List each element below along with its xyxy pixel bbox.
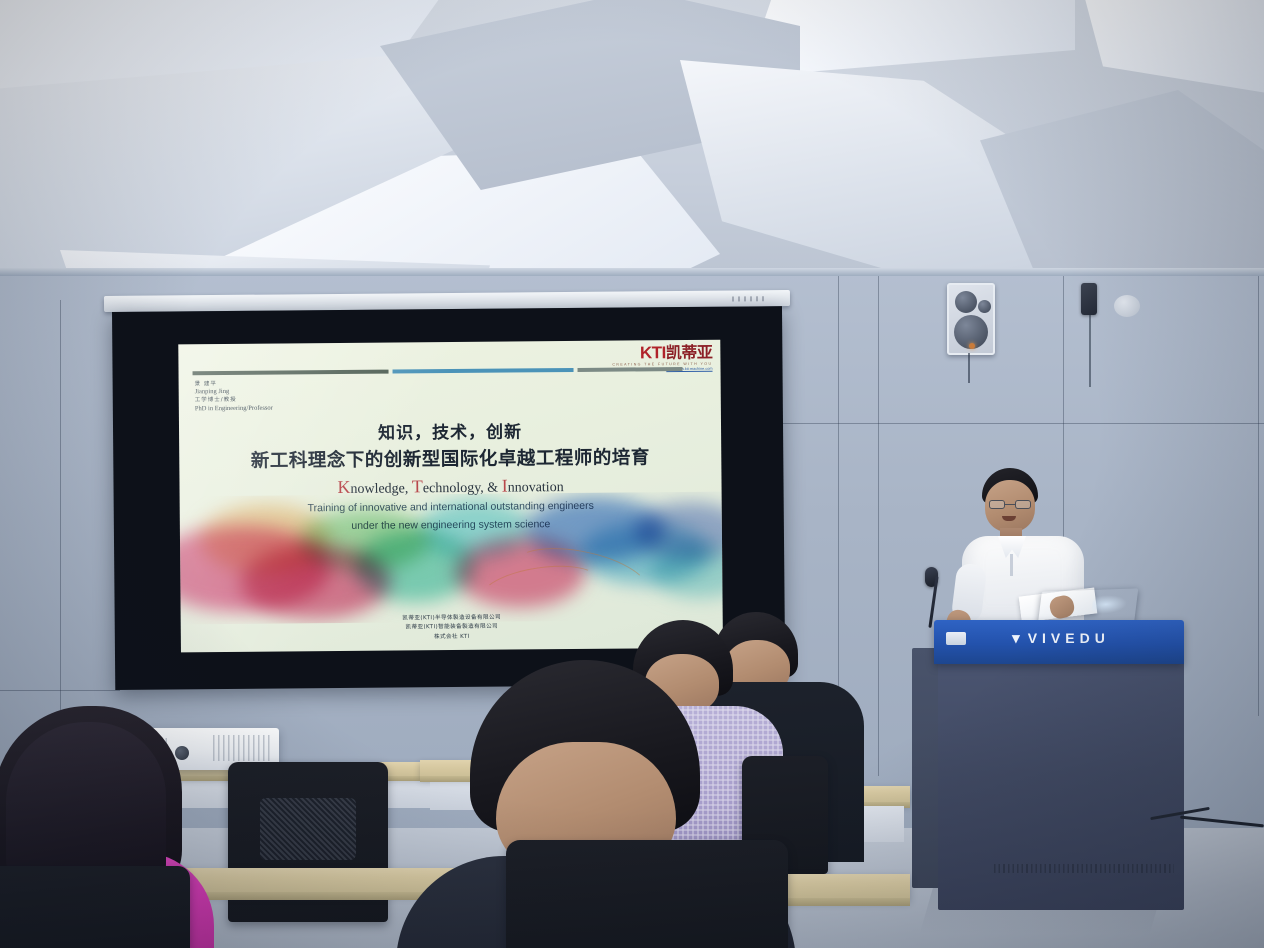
speaker-led-icon bbox=[969, 343, 975, 349]
slide-title-cn-line2: 新工科理念下的创新型国际化卓越工程师的培育 bbox=[179, 443, 721, 474]
slide-title-cn-line1: 知识，技术，创新 bbox=[179, 416, 721, 446]
podium-vent-icon bbox=[994, 864, 1174, 873]
presenter-title-en: PhD in Engineering/Professor bbox=[195, 404, 273, 413]
kti-brand-latin: KTI bbox=[640, 343, 666, 362]
divider-bar-teal bbox=[393, 368, 574, 374]
kti-brand-cn: 凯蒂亚 bbox=[666, 343, 713, 362]
presentation-slide: KTI凯蒂亚 CREATING THE FUTURE WITH YOU http… bbox=[178, 340, 723, 653]
lectern-podium: ▾VIVEDU bbox=[912, 620, 1184, 920]
projector-vent-icon bbox=[213, 735, 271, 761]
wall-seam bbox=[780, 423, 1264, 424]
wall-seam bbox=[1258, 276, 1259, 716]
eyeglasses-icon bbox=[989, 500, 1031, 509]
chair bbox=[506, 840, 788, 948]
chair-mesh-back bbox=[260, 798, 356, 860]
wall-seam bbox=[60, 300, 61, 710]
speaker-driver-icon bbox=[955, 291, 977, 313]
glasses-lens-right bbox=[1015, 500, 1031, 509]
ceiling-light-panel bbox=[1080, 0, 1264, 100]
wall-camera bbox=[1081, 283, 1097, 315]
podium-brand-text: VIVEDU bbox=[1028, 630, 1110, 646]
wall-trim bbox=[0, 268, 1264, 276]
glasses-lens-left bbox=[989, 500, 1005, 509]
smoke-detector bbox=[1114, 295, 1140, 317]
podium-body bbox=[938, 664, 1184, 910]
slide-ink-artwork bbox=[180, 492, 723, 625]
slide-divider-bars bbox=[193, 367, 683, 375]
divider-bar-dark bbox=[193, 370, 389, 376]
glasses-bridge bbox=[1005, 504, 1015, 505]
speaker-cable bbox=[968, 353, 970, 383]
podium-brand-label: ▾VIVEDU bbox=[938, 629, 1184, 647]
polo-placket bbox=[1010, 554, 1013, 576]
chair bbox=[0, 866, 190, 948]
camera-cable bbox=[1089, 315, 1091, 387]
speaker-driver-icon bbox=[978, 300, 991, 313]
wall-speaker bbox=[947, 283, 995, 355]
monitor-glare bbox=[1091, 595, 1127, 614]
housing-vent-icon bbox=[732, 296, 766, 301]
lecture-hall-photo: KTI凯蒂亚 CREATING THE FUTURE WITH YOU http… bbox=[0, 0, 1264, 948]
vivedu-v-icon: ▾ bbox=[1012, 629, 1020, 647]
wall-seam bbox=[878, 276, 879, 776]
slide-presenter-block: 景 建平 Jianping Jing 工学博士/教授 PhD in Engine… bbox=[195, 381, 273, 414]
ceiling bbox=[0, 0, 1264, 300]
